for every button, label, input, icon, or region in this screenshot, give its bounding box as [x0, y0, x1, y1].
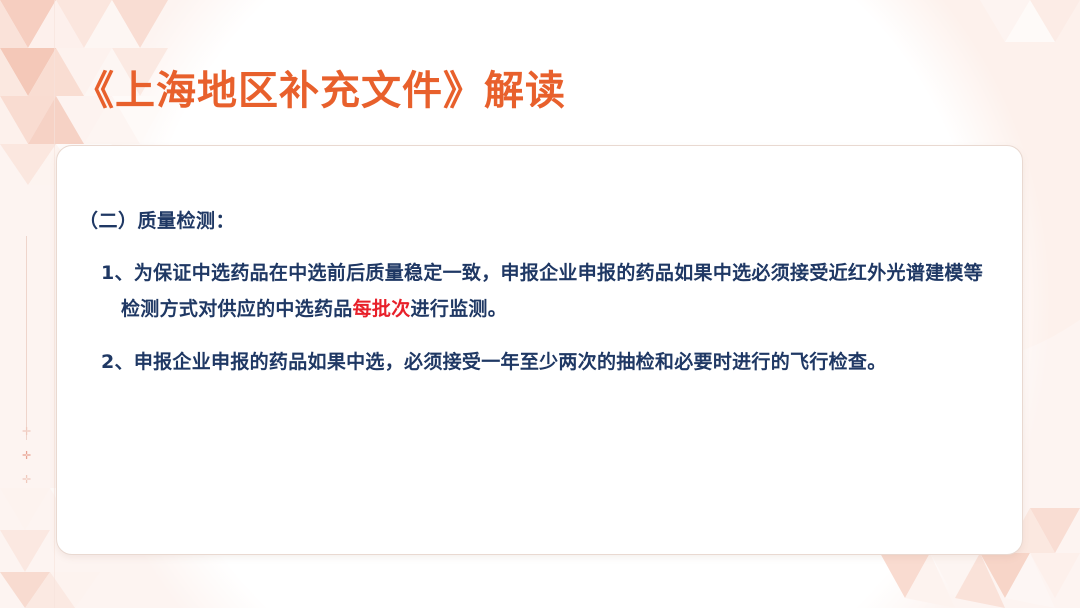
list-item: 2、申报企业申报的药品如果中选，必须接受一年至少两次的抽检和必要时进行的飞行检查… — [79, 344, 1000, 380]
left-accent-rule — [26, 236, 27, 440]
list-item-marker: 2、 — [101, 351, 134, 373]
content-card: （二）质量检测： 1、为保证中选药品在中选前后质量稳定一致，申报企业申报的药品如… — [56, 145, 1023, 555]
list-item: 1、为保证中选药品在中选前后质量稳定一致，申报企业申报的药品如果中选必须接受近红… — [79, 255, 1000, 328]
slide-root: ✛ ✛ ✛ 《上海地区补充文件》解读 （二）质量检测： 1、为保证中选药品在中选… — [0, 0, 1080, 608]
page-title: 《上海地区补充文件》解读 — [74, 58, 566, 116]
list-item-text-after: 进行监测。 — [411, 298, 508, 320]
list-item-highlight: 每批次 — [353, 298, 411, 320]
sparkle-icon-3: ✛ — [22, 474, 31, 485]
sparkle-icon-2: ✛ — [22, 450, 31, 461]
list-item-text-before: 为保证中选药品在中选前后质量稳定一致，申报企业申报的药品如果中选必须接受近红外光… — [121, 262, 983, 320]
card-body: （二）质量检测： 1、为保证中选药品在中选前后质量稳定一致，申报企业申报的药品如… — [79, 206, 1000, 386]
list-item-text-before: 申报企业申报的药品如果中选，必须接受一年至少两次的抽检和必要时进行的飞行检查。 — [134, 351, 887, 373]
sparkle-icon-1: ✛ — [22, 426, 31, 437]
frame-vertical-rule — [54, 0, 55, 608]
list-item-marker: 1、 — [101, 262, 134, 284]
section-heading: （二）质量检测： — [79, 206, 1000, 233]
